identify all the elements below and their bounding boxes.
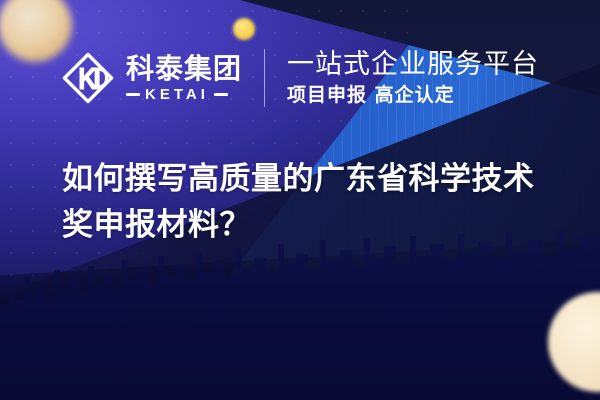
dash-left-icon	[126, 93, 140, 96]
brand-logo[interactable]: 科泰集团 KETAI	[60, 50, 242, 106]
brand-name-en-row: KETAI	[126, 87, 242, 102]
headline-text: 如何撰写高质量的广东省科学技术奖申报材料？	[62, 157, 562, 249]
city-skyline-silhouette	[0, 230, 600, 400]
brand-name-en: KETAI	[145, 87, 209, 102]
vertical-divider	[264, 49, 265, 107]
golden-dot-icon	[233, 18, 255, 40]
dash-right-icon	[214, 93, 228, 96]
promo-banner: 科泰集团 KETAI 一站式企业服务平台 项目申报 高企认定 如何撰写高质量的广…	[0, 0, 600, 400]
tagline-main: 一站式企业服务平台	[287, 50, 539, 79]
banner-header: 科泰集团 KETAI 一站式企业服务平台 项目申报 高企认定	[0, 44, 600, 112]
brand-name-cn: 科泰集团	[126, 55, 242, 83]
tagline-block: 一站式企业服务平台 项目申报 高企认定	[287, 50, 539, 107]
tagline-sub: 项目申报 高企认定	[287, 84, 539, 107]
ketai-diamond-kt-monogram-icon	[60, 50, 116, 106]
brand-wordmark: 科泰集团 KETAI	[126, 55, 242, 102]
